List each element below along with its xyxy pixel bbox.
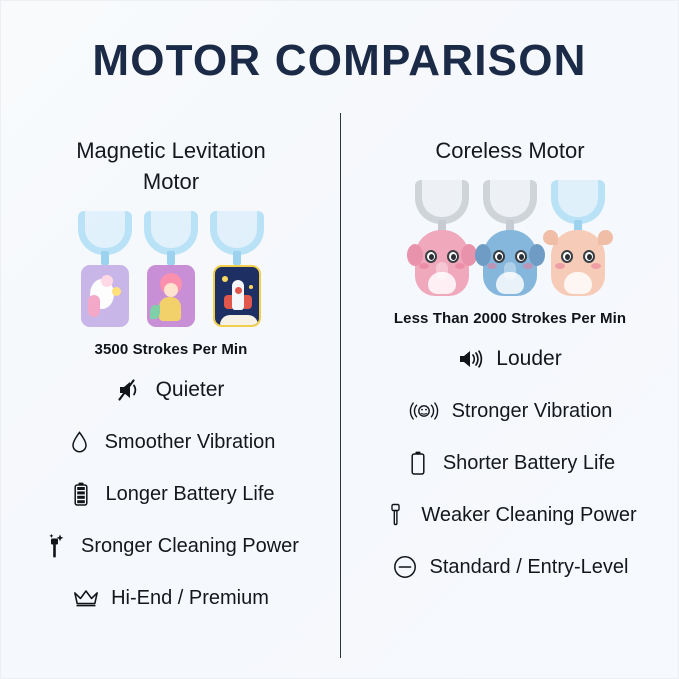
- comparison-infographic: MOTOR COMPARISON Magnetic Levitation Mot…: [0, 0, 679, 679]
- feature-row-standard: Standard / Entry-Level: [350, 541, 670, 593]
- feature-label: Smoother Vibration: [105, 431, 276, 454]
- u-head-icon: [415, 180, 469, 224]
- feature-label: Shorter Battery Life: [443, 452, 615, 475]
- column-coreless-motor: Coreless Motor: [350, 113, 670, 593]
- feature-label: Weaker Cleaning Power: [421, 504, 636, 527]
- column-heading-right-line1: Coreless Motor: [435, 138, 584, 163]
- product-image-right: [350, 180, 670, 298]
- feature-label: Standard / Entry-Level: [430, 556, 629, 579]
- u-head-icon: [144, 211, 198, 255]
- feature-row-quieter: Quieter: [11, 364, 331, 416]
- column-heading-left-line1: Magnetic Levitation: [76, 138, 266, 163]
- feature-row-shorter-battery: Shorter Battery Life: [350, 437, 670, 489]
- brush-body: [483, 230, 537, 296]
- brush-body: [551, 230, 605, 296]
- column-heading-left: Magnetic Levitation Motor: [11, 135, 331, 197]
- brush-body: [147, 265, 195, 327]
- product-image-left: [11, 211, 331, 329]
- brush-body: [81, 265, 129, 327]
- feature-list-left: Quieter Smoother Vibration: [11, 364, 331, 624]
- strokes-per-min-right: Less Than 2000 Strokes Per Min: [350, 310, 670, 327]
- mermaid-toothbrush: [142, 211, 200, 327]
- feature-row-longer-battery: Longer Battery Life: [11, 468, 331, 520]
- feature-row-hi-end: Hi-End / Premium: [11, 572, 331, 624]
- feature-label: Longer Battery Life: [106, 483, 275, 506]
- feature-label: Sronger Cleaning Power: [81, 535, 299, 558]
- feature-row-weaker-cleaning: Weaker Cleaning Power: [350, 489, 670, 541]
- column-heading-left-line2: Motor: [143, 169, 199, 194]
- feature-row-stronger-vibration: Stronger Vibration: [350, 385, 670, 437]
- speaker-loud-icon: [458, 346, 484, 372]
- u-head-icon: [78, 211, 132, 255]
- pink-elephant-toothbrush: [413, 180, 471, 296]
- battery-empty-icon: [405, 450, 431, 476]
- feature-row-louder: Louder: [350, 333, 670, 385]
- blue-elephant-toothbrush: [481, 180, 539, 296]
- unicorn-toothbrush: [76, 211, 134, 327]
- peach-cat-toothbrush: [549, 180, 607, 296]
- brush-neck: [233, 251, 241, 265]
- column-heading-right: Coreless Motor: [350, 135, 670, 166]
- circle-minus-icon: [392, 554, 418, 580]
- brush-body: [415, 230, 469, 296]
- u-head-icon: [551, 180, 605, 224]
- feature-label: Quieter: [156, 378, 225, 402]
- feature-label: Stronger Vibration: [452, 400, 613, 423]
- feature-row-smoother-vibration: Smoother Vibration: [11, 416, 331, 468]
- toothbrush-icon: [383, 502, 409, 528]
- feature-list-right: Louder Stronger Vibration: [350, 333, 670, 593]
- column-divider: [340, 113, 341, 658]
- brush-neck: [101, 251, 109, 265]
- column-magnetic-levitation: Magnetic Levitation Motor: [11, 113, 331, 624]
- feature-row-stronger-cleaning: Sronger Cleaning Power: [11, 520, 331, 572]
- u-head-icon: [210, 211, 264, 255]
- speaker-mute-icon: [118, 377, 144, 403]
- feature-label: Hi-End / Premium: [111, 587, 269, 610]
- vibration-icon: [408, 398, 440, 424]
- u-head-icon: [483, 180, 537, 224]
- page-title: MOTOR COMPARISON: [1, 39, 678, 83]
- toothbrush-sparkle-icon: [43, 533, 69, 559]
- rocket-toothbrush: [208, 211, 266, 327]
- water-drop-icon: [67, 429, 93, 455]
- feature-label: Louder: [496, 347, 561, 371]
- brush-neck: [167, 251, 175, 265]
- strokes-per-min-left: 3500 Strokes Per Min: [11, 341, 331, 358]
- crown-icon: [73, 585, 99, 611]
- brush-body: [213, 265, 261, 327]
- battery-full-icon: [68, 481, 94, 507]
